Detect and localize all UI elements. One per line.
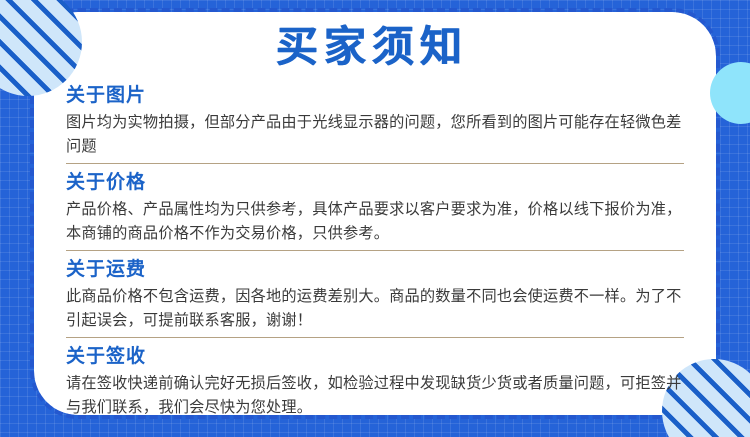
- section-heading: 关于价格: [66, 171, 684, 195]
- section-divider: [66, 163, 684, 164]
- section-heading: 关于签收: [66, 345, 684, 369]
- buyer-notice-banner: 买家须知 关于图片 图片均为实物拍摄，但部分产品由于光线显示器的问题，您所看到的…: [0, 0, 750, 437]
- section-body: 图片均为实物拍摄，但部分产品由于光线显示器的问题，您所看到的图片可能存在轻微色差…: [66, 110, 684, 159]
- section-body: 产品价格、产品属性均为只供参考，具体产品要求以客户要求为准，价格以线下报价为准，…: [66, 197, 684, 246]
- banner-content: 买家须知 关于图片 图片均为实物拍摄，但部分产品由于光线显示器的问题，您所看到的…: [34, 12, 716, 415]
- section-body: 此商品价格不包含运费，因各地的运费差别大。商品的数量不同也会使运费不一样。为了不…: [66, 284, 684, 333]
- section-heading: 关于图片: [66, 84, 684, 108]
- notice-section: 关于运费 此商品价格不包含运费，因各地的运费差别大。商品的数量不同也会使运费不一…: [66, 258, 684, 338]
- notice-section: 关于图片 图片均为实物拍摄，但部分产品由于光线显示器的问题，您所看到的图片可能存…: [66, 84, 684, 164]
- section-heading: 关于运费: [66, 258, 684, 282]
- section-divider: [66, 337, 684, 338]
- notice-section: 关于价格 产品价格、产品属性均为只供参考，具体产品要求以客户要求为准，价格以线下…: [66, 171, 684, 251]
- notice-section-list: 关于图片 图片均为实物拍摄，但部分产品由于光线显示器的问题，您所看到的图片可能存…: [66, 84, 684, 420]
- section-divider: [66, 250, 684, 251]
- notice-section: 关于签收 请在签收快递前确认完好无损后签收，如检验过程中发现缺货少货或者质量问题…: [66, 345, 684, 420]
- page-title: 买家须知: [66, 26, 684, 68]
- section-body: 请在签收快递前确认完好无损后签收，如检验过程中发现缺货少货或者质量问题，可拒签并…: [66, 371, 684, 420]
